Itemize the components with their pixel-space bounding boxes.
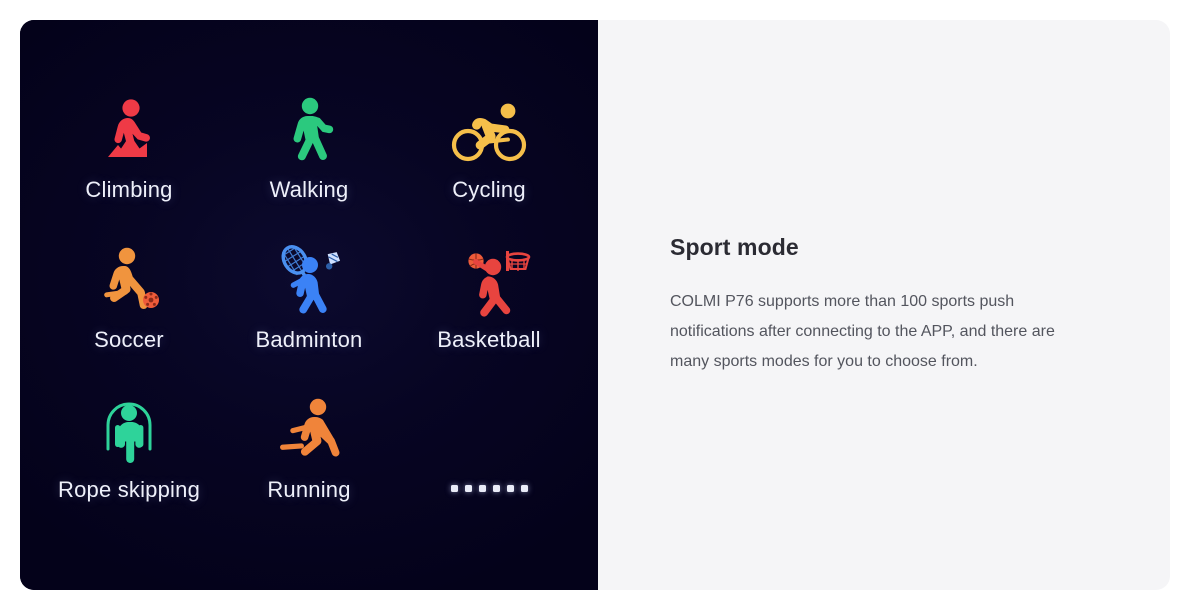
sport-tile-cycling[interactable]: Cycling (399, 83, 579, 233)
sport-label-soccer: Soccer (94, 327, 164, 353)
sport-label-basketball: Basketball (437, 327, 541, 353)
sport-tile-walking[interactable]: Walking (219, 83, 399, 233)
running-icon (270, 391, 348, 469)
sport-label-rope-skipping: Rope skipping (58, 477, 200, 503)
sport-tile-basketball[interactable]: Basketball (399, 233, 579, 383)
walking-icon (270, 91, 348, 169)
sport-tile-climbing[interactable]: Climbing (39, 83, 219, 233)
sport-mode-info-panel: Sport mode COLMI P76 supports more than … (598, 20, 1170, 590)
sport-tile-badminton[interactable]: Badminton (219, 233, 399, 383)
sports-preview-panel: Climbing Walking (20, 20, 598, 590)
page-title: Sport mode (670, 234, 1098, 261)
climbing-icon (90, 91, 168, 169)
sport-tile-more[interactable] (399, 383, 579, 533)
basketball-icon (450, 241, 528, 319)
sport-label-cycling: Cycling (452, 177, 526, 203)
sport-tile-soccer[interactable]: Soccer (39, 233, 219, 383)
sport-label-badminton: Badminton (256, 327, 363, 353)
soccer-icon (90, 241, 168, 319)
cycling-icon (450, 91, 528, 169)
badminton-icon (270, 241, 348, 319)
sports-grid: Climbing Walking (39, 83, 579, 533)
sport-tile-rope-skipping[interactable]: Rope skipping (39, 383, 219, 533)
description-text: COLMI P76 supports more than 100 sports … (670, 287, 1090, 377)
sport-tile-running[interactable]: Running (219, 383, 399, 533)
rope-skipping-icon (90, 391, 168, 469)
sport-label-climbing: Climbing (85, 177, 172, 203)
more-dots-icon (451, 477, 528, 499)
sport-label-walking: Walking (270, 177, 349, 203)
sport-mode-feature-card: Climbing Walking (20, 20, 1170, 590)
more-placeholder (450, 391, 528, 469)
sport-label-running: Running (267, 477, 350, 503)
